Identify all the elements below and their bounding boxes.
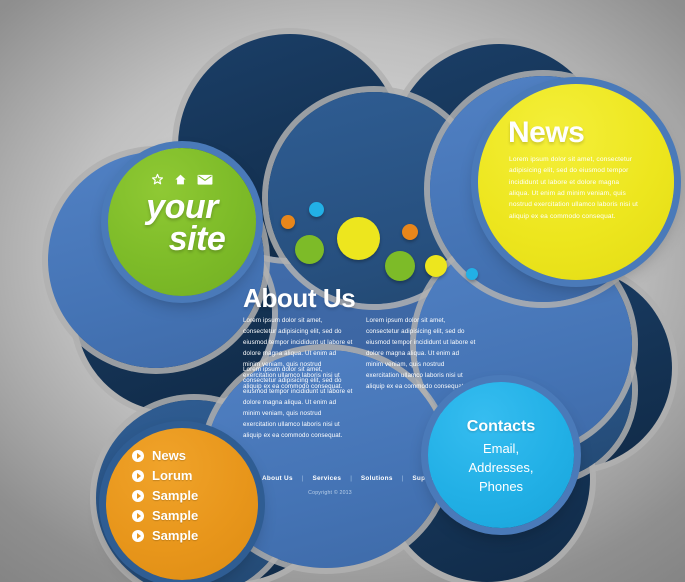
menu-item-sample-3[interactable]: Sample <box>132 526 198 545</box>
menu-item-label: Sample <box>152 508 198 523</box>
dot-orange-2 <box>402 224 418 240</box>
footer-separator: | <box>302 475 304 482</box>
contacts-line-addresses: Addresses, <box>428 459 574 478</box>
about-us-title: About Us <box>243 283 355 314</box>
page-root: your site News Lorem ipsum dolor sit ame… <box>0 0 685 582</box>
logo-icon-row <box>108 172 256 188</box>
copyright-text: Copyright © 2013 <box>262 490 398 496</box>
dot-cyan-1 <box>309 202 324 217</box>
logo-circle[interactable]: your site <box>108 148 256 296</box>
logo-line-2: site <box>138 224 256 256</box>
arrow-icon <box>132 510 144 522</box>
contacts-circle[interactable]: Contacts Email, Addresses, Phones <box>428 382 574 528</box>
contacts-line-phones: Phones <box>428 478 574 497</box>
arrow-icon <box>132 450 144 462</box>
about-us-paragraph-2: Lorem ipsum dolor sit amet, consectetur … <box>243 364 355 441</box>
dot-green-1 <box>295 235 324 264</box>
menu-item-label: News <box>152 448 186 463</box>
footer-link-services[interactable]: Services <box>312 475 341 482</box>
home-icon[interactable] <box>174 173 187 186</box>
arrow-icon <box>132 470 144 482</box>
arrow-icon <box>132 490 144 502</box>
logo-text: your site <box>108 192 256 256</box>
dot-yellow-1 <box>337 217 380 260</box>
about-us-paragraph-3: Lorem ipsum dolor sit amet, consectetur … <box>366 315 478 392</box>
dot-orange-1 <box>281 215 295 229</box>
footer-link-solutions[interactable]: Solutions <box>361 475 393 482</box>
menu-item-lorum[interactable]: Lorum <box>132 466 198 485</box>
star-icon[interactable] <box>151 173 164 186</box>
menu-circle[interactable]: News Lorum Sample Sample Sample <box>106 428 258 580</box>
dot-yellow-2 <box>425 255 447 277</box>
menu-item-news[interactable]: News <box>132 446 198 465</box>
arrow-icon <box>132 530 144 542</box>
menu-item-sample-1[interactable]: Sample <box>132 486 198 505</box>
menu-item-label: Sample <box>152 528 198 543</box>
menu-item-sample-2[interactable]: Sample <box>132 506 198 525</box>
footer-separator: | <box>402 475 404 482</box>
menu-item-label: Lorum <box>152 468 192 483</box>
envelope-icon[interactable] <box>197 173 213 186</box>
dot-cyan-2 <box>466 268 478 280</box>
dot-green-2 <box>385 251 415 281</box>
news-body: Lorem ipsum dolor sit amet, consectetur … <box>509 154 641 222</box>
news-circle[interactable]: News Lorem ipsum dolor sit amet, consect… <box>478 84 674 280</box>
footer-separator: | <box>350 475 352 482</box>
menu-list: News Lorum Sample Sample Sample <box>132 446 198 546</box>
contacts-title: Contacts <box>428 418 574 436</box>
contacts-line-email: Email, <box>428 440 574 459</box>
news-title: News <box>508 116 584 150</box>
footer-link-about-us[interactable]: About Us <box>262 475 293 482</box>
contacts-lines: Email, Addresses, Phones <box>428 440 574 497</box>
menu-item-label: Sample <box>152 488 198 503</box>
